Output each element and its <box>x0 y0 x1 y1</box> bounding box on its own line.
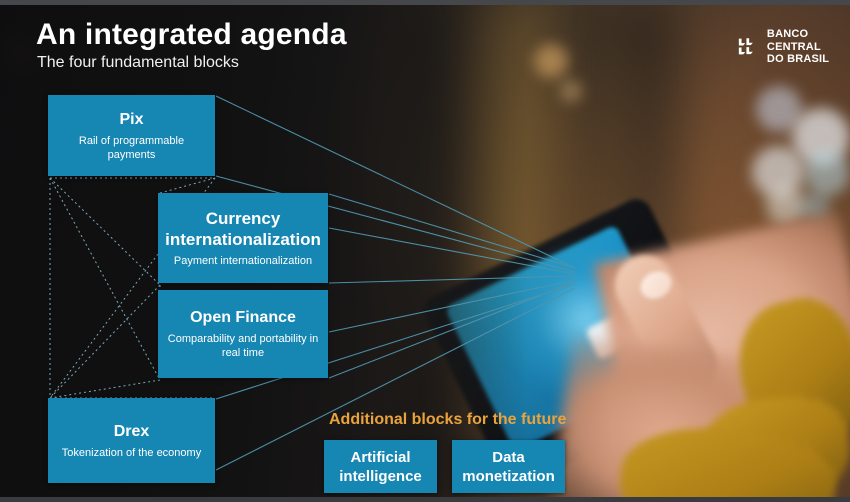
block-drex-title: Drex <box>114 422 150 442</box>
block-drex[interactable]: Drex Tokenization of the economy <box>48 398 215 483</box>
block-currency-subtitle: Payment internationalization <box>174 254 312 268</box>
bcb-chevron-mark-icon <box>738 36 760 58</box>
block-data-monetization[interactable]: Data monetization <box>452 440 565 493</box>
page-subtitle: The four fundamental blocks <box>37 54 239 72</box>
block-drex-subtitle: Tokenization of the economy <box>62 446 201 460</box>
block-artificial-intelligence[interactable]: Artificial intelligence <box>324 440 437 493</box>
logo-line-1: BANCO CENTRAL <box>767 28 850 53</box>
block-pix[interactable]: Pix Rail of programmable payments <box>48 95 215 176</box>
logo-text-block: BANCO CENTRAL DO BRASIL <box>767 28 850 66</box>
block-pix-subtitle: Rail of programmable payments <box>56 134 207 162</box>
logo-line-2: DO BRASIL <box>767 53 850 66</box>
slide-canvas: An integrated agenda The four fundamenta… <box>0 0 850 502</box>
block-open-finance[interactable]: Open Finance Comparability and portabili… <box>158 290 328 378</box>
block-currency-title: Currency internationalization <box>165 208 321 250</box>
future-blocks-label: Additional blocks for the future <box>329 411 566 429</box>
block-currency-internationalization[interactable]: Currency internationalization Payment in… <box>158 193 328 283</box>
page-title: An integrated agenda <box>36 18 347 52</box>
brand-logo: BANCO CENTRAL DO BRASIL <box>738 28 850 66</box>
block-open-finance-title: Open Finance <box>190 308 296 328</box>
block-pix-title: Pix <box>119 110 143 130</box>
block-open-finance-subtitle: Comparability and portability in real ti… <box>166 332 320 360</box>
